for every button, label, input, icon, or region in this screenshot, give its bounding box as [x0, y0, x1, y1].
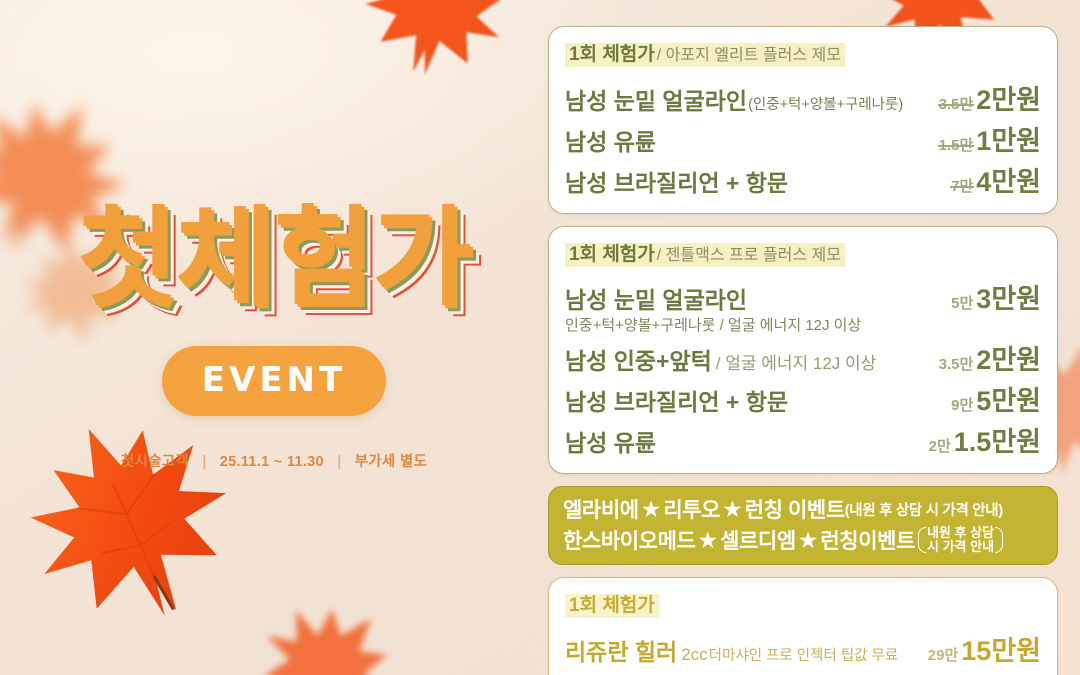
price-card-list: 1회 체험가/ 아포지 엘리트 플러스 제모 남성 눈밑 얼굴라인 (인중+턱+…	[548, 26, 1058, 675]
price-row: 남성 브라질리언 + 항문 9만5만원	[565, 378, 1041, 419]
price-group: 1.5만1만원	[939, 119, 1041, 158]
star-icon: ★	[722, 496, 743, 523]
hero-panel: 첫체험가 EVENT 첫시술고객 | 25.11.1 ~ 11.30 | 부가세…	[0, 0, 548, 675]
new-price: 5만원	[976, 386, 1041, 416]
launch-note-line2: 시 가격 안내	[927, 540, 994, 554]
launch-note: (내원 후 상담 시 가격 안내)	[845, 499, 1003, 520]
footer-tax: 부가세 별도	[355, 454, 428, 470]
price-group: 5만3만원	[951, 277, 1041, 316]
price-group: 2만1.5만원	[929, 420, 1041, 459]
launch-line-1: 엘라비에 ★ 리투오 ★ 런칭 이벤트 (내원 후 상담 시 가격 안내)	[563, 494, 1043, 524]
service-name: 남성 유륜	[565, 424, 656, 458]
service-note: (인중+턱+양볼+구레나룻)	[748, 93, 903, 114]
price-row: 남성 브라질리언 + 항문 7만4만원	[565, 159, 1041, 200]
old-price: 2만	[929, 438, 951, 455]
star-icon: ★	[641, 496, 662, 523]
launch-brand: 한스바이오메드	[563, 525, 695, 555]
new-price: 3만원	[976, 284, 1041, 314]
price-row: 남성 눈밑 얼굴라인 5만3만원	[565, 276, 1041, 317]
card-header-sub: / 아포지 엘리트 플러스 제모	[657, 47, 841, 64]
card-header: 1회 체험가	[565, 592, 1041, 621]
new-price: 2만원	[976, 85, 1041, 115]
old-price: 1.5만	[939, 137, 974, 154]
card-header-sub: / 젠틀맥스 프로 플러스 제모	[657, 247, 841, 264]
price-group: 3.5만2만원	[939, 78, 1041, 117]
service-name: 리쥬란 힐러	[565, 633, 677, 667]
event-badge: EVENT	[162, 346, 386, 416]
launch-line-2: 한스바이오메드 ★ 셀르디엠 ★ 런칭이벤트 내원 후 상담 시 가격 안내	[563, 525, 1043, 555]
price-group: 15만8만원	[943, 670, 1041, 675]
price-row: 리쥬란 힐러 2cc 더마샤인 프로 인젝터 팁값 무료 29만15만원	[565, 628, 1041, 669]
price-row: 남성 눈밑 얼굴라인 (인중+턱+양볼+구레나룻) 3.5만2만원	[565, 77, 1041, 118]
footer-separator-1: |	[202, 454, 206, 470]
footer-customer: 첫시술고객	[121, 454, 189, 470]
old-price: 3.5만	[939, 96, 974, 113]
price-row: 남성 유륜 1.5만1만원	[565, 118, 1041, 159]
price-group: 9만5만원	[951, 379, 1041, 418]
old-price: 9만	[951, 397, 973, 414]
price-card-apogee: 1회 체험가/ 아포지 엘리트 플러스 제모 남성 눈밑 얼굴라인 (인중+턱+…	[548, 26, 1058, 214]
new-price: 15만원	[961, 636, 1041, 666]
price-group: 3.5만2만원	[939, 338, 1041, 377]
price-card-gentlemax: 1회 체험가/ 젠틀맥스 프로 플러스 제모 남성 눈밑 얼굴라인 5만3만원 …	[548, 226, 1058, 475]
launch-note: 내원 후 상담 시 가격 안내	[918, 526, 1003, 553]
old-price: 7만	[951, 178, 973, 195]
page-title: 첫체험가	[77, 204, 470, 312]
service-subline: 인중+턱+양볼+구레나룻 / 얼굴 에너지 12J 이상	[565, 314, 1041, 335]
service-name: 남성 브라질리언 + 항문	[565, 164, 788, 198]
price-row: 남성 유륜 2만1.5만원	[565, 419, 1041, 460]
old-price: 3.5만	[939, 356, 974, 373]
price-row: 아이리쥬란 힐러 1cc 15만8만원	[565, 669, 1041, 675]
card-header: 1회 체험가/ 아포지 엘리트 플러스 제모	[565, 41, 1041, 70]
price-group: 29만15만원	[928, 629, 1041, 668]
service-name: 남성 인중+앞턱	[565, 342, 712, 376]
launch-tail: 런칭이벤트	[820, 525, 915, 555]
footer-separator-2: |	[337, 454, 341, 470]
launch-product: 리투오	[663, 494, 720, 524]
old-price: 5만	[951, 295, 973, 312]
star-icon: ★	[697, 527, 718, 554]
new-price: 4만원	[976, 167, 1041, 197]
new-price: 1만원	[976, 126, 1041, 156]
card-header-label: 1회 체험가/ 젠틀맥스 프로 플러스 제모	[565, 243, 845, 267]
launch-product: 셀르디엠	[720, 525, 796, 555]
service-note: 더마샤인 프로 인젝터 팁값 무료	[709, 644, 899, 665]
service-dose: 2cc	[681, 645, 707, 665]
service-name: 남성 브라질리언 + 항문	[565, 383, 788, 417]
old-price: 29만	[928, 647, 959, 664]
card-header-label: 1회 체험가	[565, 594, 659, 618]
service-name: 남성 눈밑 얼굴라인	[565, 281, 747, 315]
new-price: 1.5만원	[954, 427, 1041, 457]
service-name: 남성 유륜	[565, 123, 656, 157]
price-row: 남성 인중+앞턱 / 얼굴 에너지 12J 이상 3.5만2만원	[565, 337, 1041, 378]
star-icon: ★	[798, 527, 819, 554]
launch-event-banner: 엘라비에 ★ 리투오 ★ 런칭 이벤트 (내원 후 상담 시 가격 안내) 한스…	[548, 486, 1058, 565]
launch-brand: 엘라비에	[563, 494, 639, 524]
footer-note: 첫시술고객 | 25.11.1 ~ 11.30 | 부가세 별도	[121, 450, 427, 471]
card-header-label: 1회 체험가/ 아포지 엘리트 플러스 제모	[565, 43, 845, 67]
service-name: 남성 눈밑 얼굴라인	[565, 82, 747, 116]
price-group: 7만4만원	[951, 160, 1041, 199]
launch-note-line1: 내원 후 상담	[927, 526, 994, 540]
card-header: 1회 체험가/ 젠틀맥스 프로 플러스 제모	[565, 241, 1041, 270]
launch-tail: 런칭 이벤트	[745, 494, 845, 524]
price-card-injection: 1회 체험가 리쥬란 힐러 2cc 더마샤인 프로 인젝터 팁값 무료 29만1…	[548, 577, 1058, 675]
footer-period: 25.11.1 ~ 11.30	[220, 454, 324, 470]
new-price: 2만원	[976, 345, 1041, 375]
service-note: / 얼굴 에너지 12J 이상	[716, 349, 877, 374]
